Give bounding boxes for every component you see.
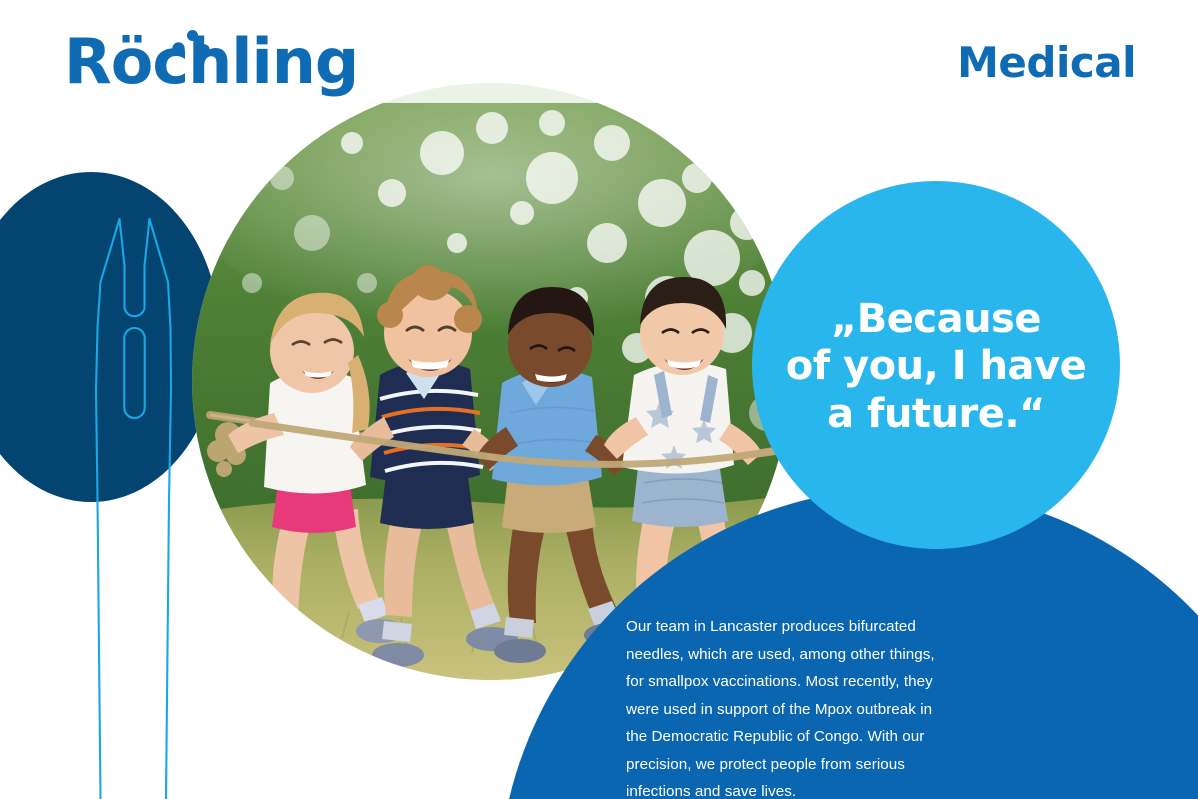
promo-banner: „Because of you, I have a future.“ Our t… bbox=[0, 0, 1198, 799]
division-label: Medical bbox=[957, 38, 1136, 88]
body-paragraph: Our team in Lancaster produces bifurcate… bbox=[626, 613, 948, 799]
quote-circle: „Because of you, I have a future.“ bbox=[752, 181, 1120, 549]
roechling-logo[interactable]: Röchling bbox=[64, 22, 394, 102]
quote-text: „Because of you, I have a future.“ bbox=[776, 296, 1096, 438]
logo-wordmark: Röchling bbox=[64, 22, 358, 102]
